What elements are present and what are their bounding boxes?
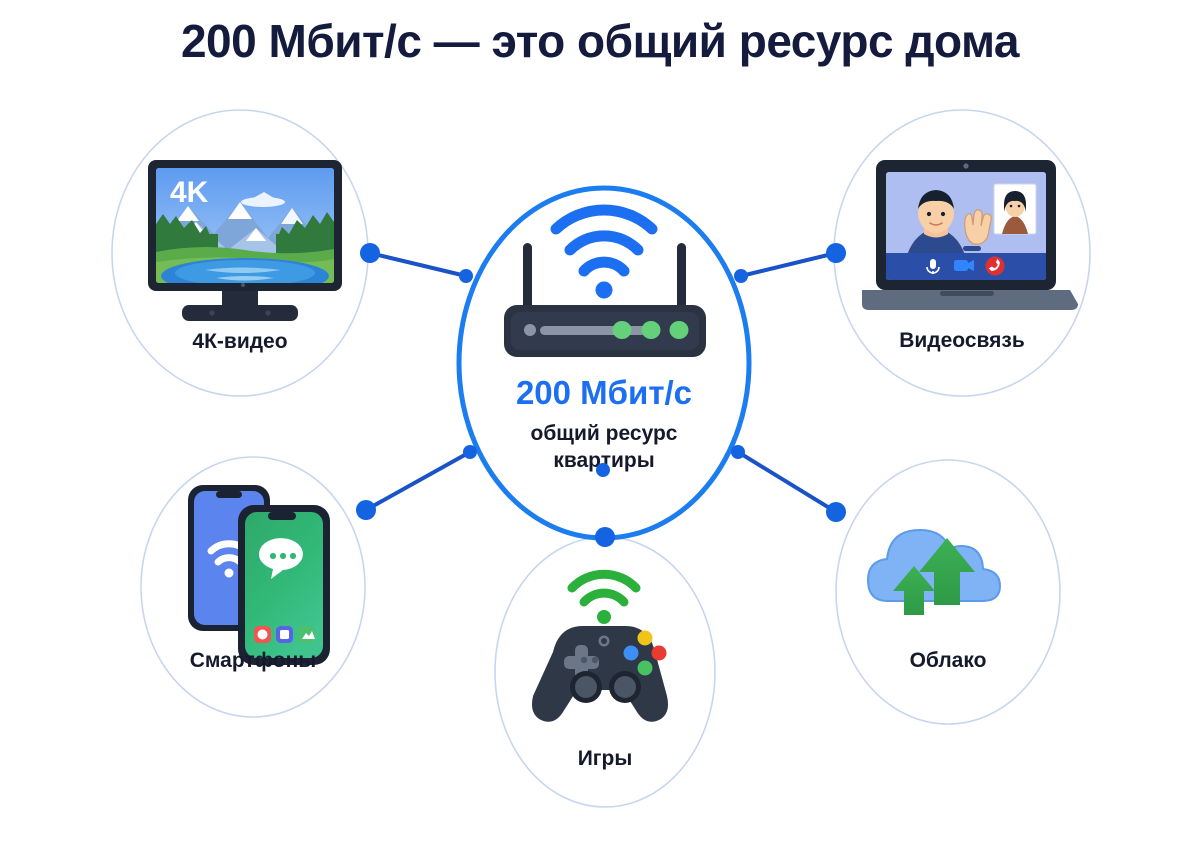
hub-speed: 200 Мбит/с [516,374,692,411]
connector-tv [370,253,466,276]
dot-video-hub[interactable] [734,269,748,283]
dot-phones-outer[interactable] [356,500,376,520]
dot-cloud-hub[interactable] [731,445,745,459]
node-label-tv: 4К-видео [192,330,287,353]
connector-video [741,253,836,276]
node-label-cloud: Облако [910,649,987,672]
node-label-phones: Смартфоны [190,649,316,672]
connector-phones [366,452,470,510]
node-label-video: Видеосвязь [899,329,1025,352]
tv-4k-badge: 4K [170,176,209,209]
hangup-icon[interactable] [986,257,1005,276]
connector-cloud [738,452,836,512]
dot-tv-hub[interactable] [459,269,473,283]
phone-app-icons [254,626,315,643]
dot-video-outer[interactable] [826,243,846,263]
dot-cloud-outer[interactable] [826,502,846,522]
camera-icon[interactable] [954,260,974,271]
dot-games-outer[interactable] [595,527,615,547]
hub-subtitle-1: общий ресурс [531,422,678,445]
network-diagram: 4K 4К-видео [0,0,1200,848]
node-label-games: Игры [578,747,633,770]
dot-tv-outer[interactable] [360,243,380,263]
dot-games-hub[interactable] [596,463,610,477]
dot-phones-hub[interactable] [463,445,477,459]
videocall-scene [886,172,1046,280]
infographic-canvas: 200 Мбит/с — это общий ресурс дома [0,0,1200,848]
